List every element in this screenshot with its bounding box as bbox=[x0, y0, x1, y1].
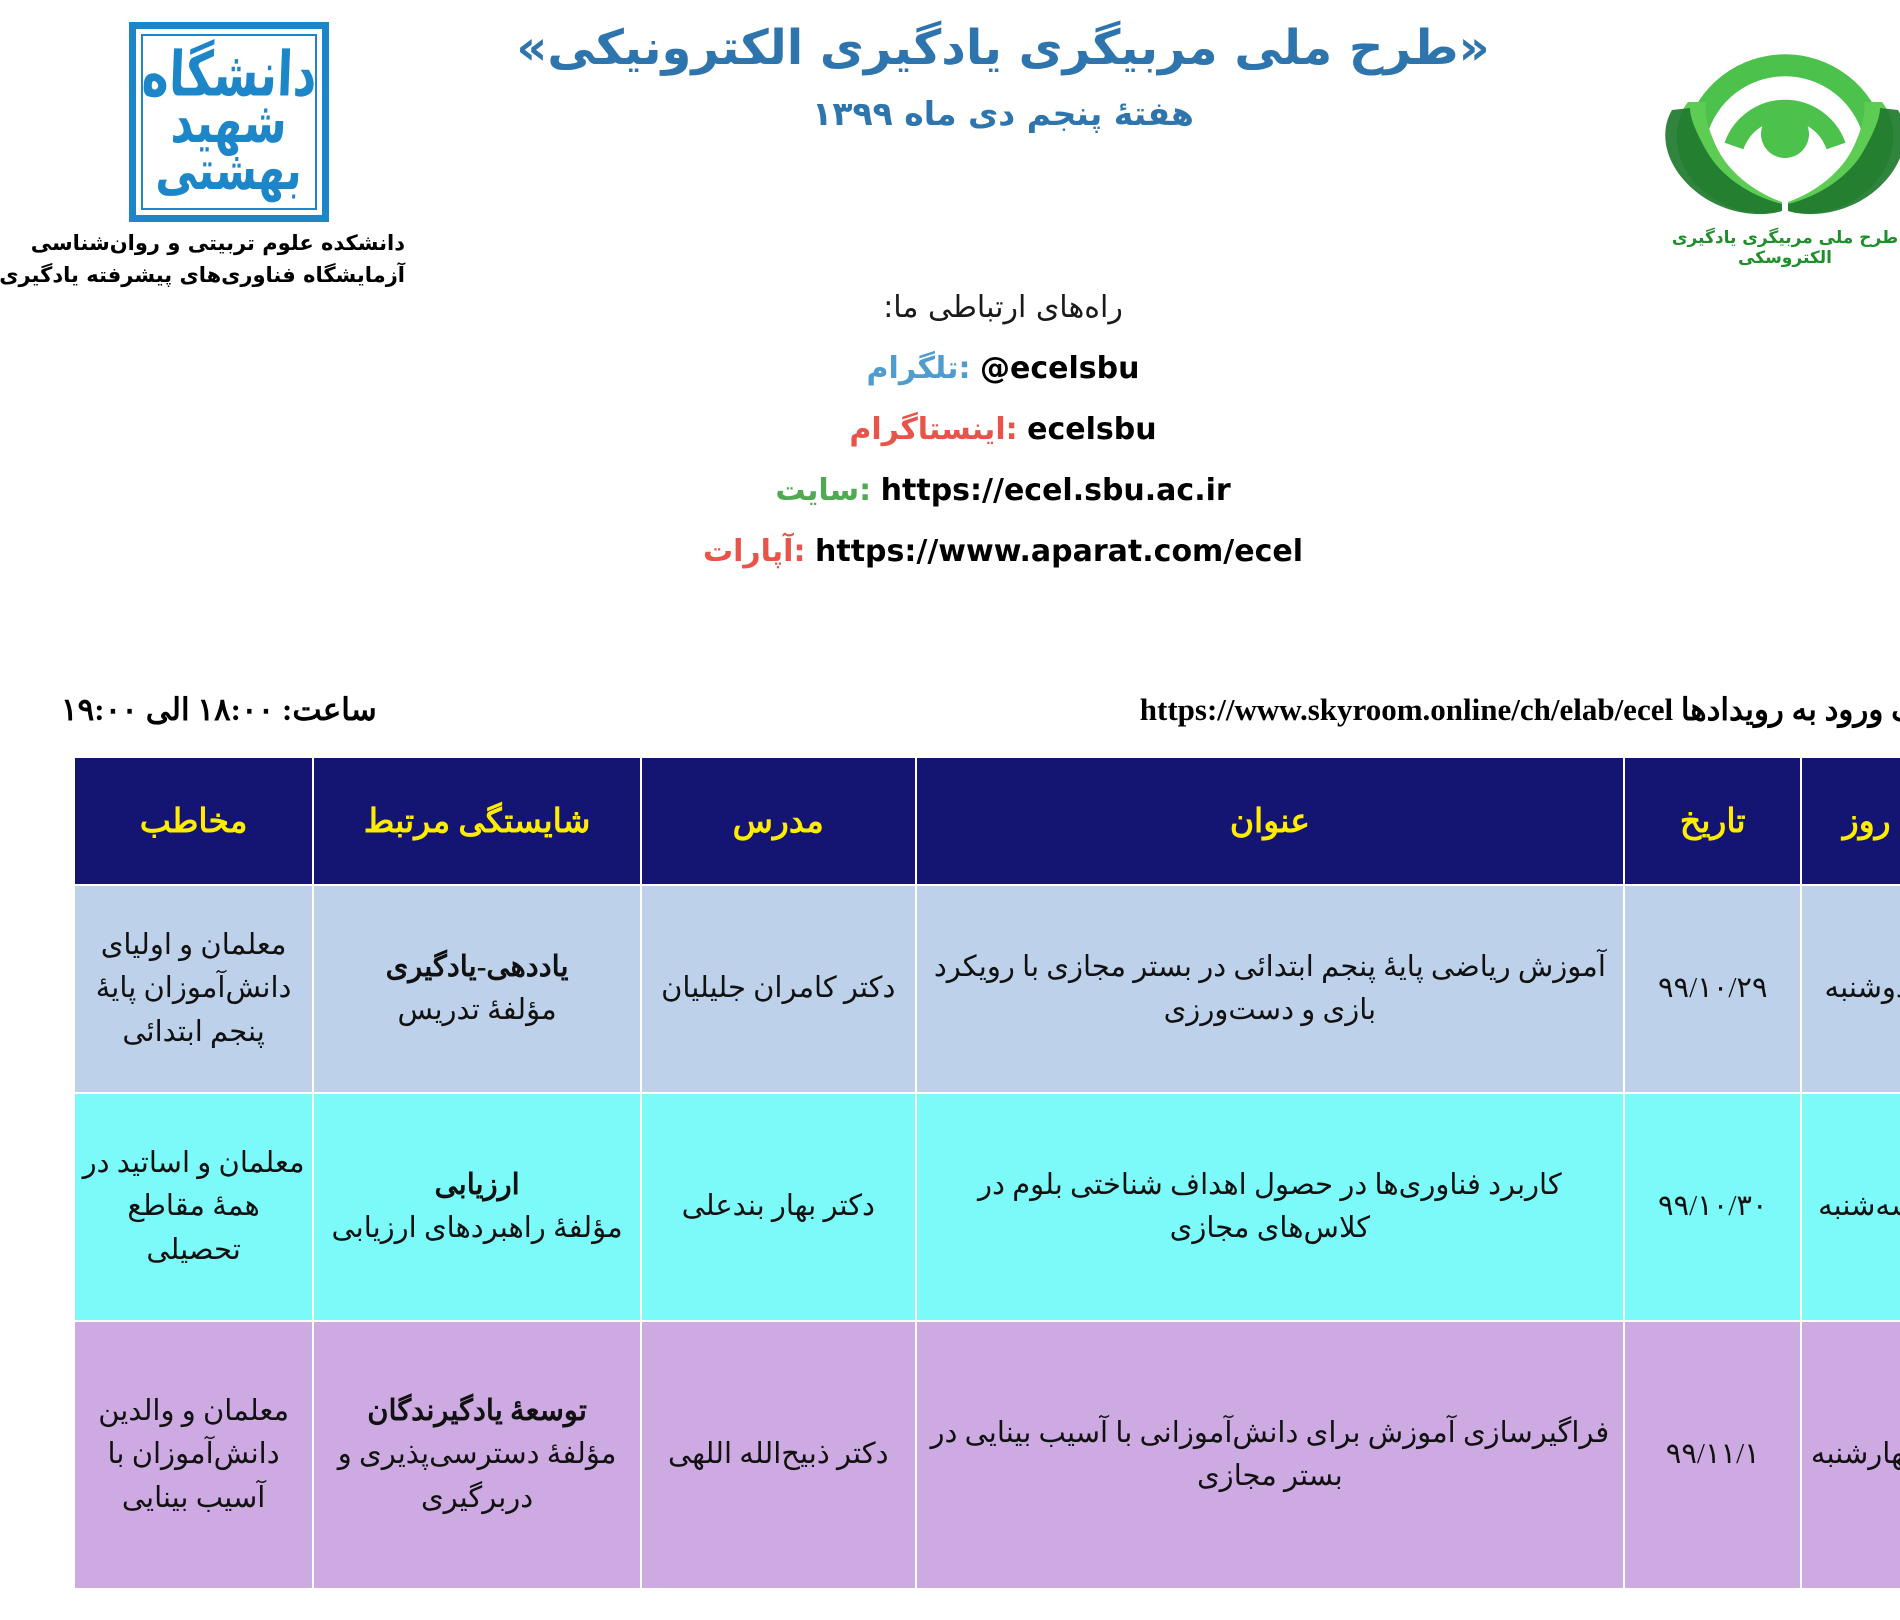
contact-row-instagram: ecelsbu :اینستاگرام bbox=[0, 412, 1900, 447]
shahid-beheshti-university-logo-icon: دانشگاه شهید بهشتی bbox=[76, 22, 276, 222]
ecel-program-logo-icon bbox=[1597, 6, 1867, 226]
sbu-logo-line-3: بهشتی bbox=[102, 146, 250, 196]
program-logo-caption: طرح ملی مربیگری یادگیری الکتروسکی bbox=[1572, 228, 1892, 268]
schedule-table-body: دوشنبه ۹۹/۱۰/۲۹ آموزش ریاضی پایۀ پنجم اب… bbox=[21, 885, 1879, 1589]
cell-day: سه‌شنبه bbox=[1748, 1093, 1879, 1321]
column-header-audience: مخاطب bbox=[21, 757, 260, 885]
cell-competency: یاددهی-یادگیری مؤلفۀ تدریس bbox=[260, 885, 588, 1093]
poster-subtitle: هفتۀ پنجم دی ماه ۱۳۹۹ bbox=[360, 94, 1540, 133]
cell-title: کاربرد فناوری‌ها در حصول اهداف شناختی بل… bbox=[863, 1093, 1572, 1321]
cell-title: آموزش ریاضی پایۀ پنجم ابتدائی در بستر مج… bbox=[863, 885, 1572, 1093]
telegram-label: :تلگرام bbox=[814, 351, 918, 386]
cell-day: چهارشنبه bbox=[1748, 1321, 1879, 1589]
cell-audience: معلمان و اولیای دانش‌آموزان پایۀ پنجم اب… bbox=[21, 885, 260, 1093]
university-block: دانشگاه شهید بهشتی دانشکده علوم تربیتی و… bbox=[0, 8, 352, 291]
column-header-day: روز bbox=[1748, 757, 1879, 885]
aparat-url[interactable]: https://www.aparat.com/ecel bbox=[762, 534, 1250, 569]
title-block: «طرح ملی مربیگری یادگیری الکترونیکی» هفت… bbox=[360, 18, 1540, 133]
contact-row-website: https://ecel.sbu.ac.ir :سایت bbox=[0, 473, 1900, 508]
competency-sub: مؤلفۀ تدریس bbox=[267, 989, 581, 1033]
contact-heading: راه‌های ارتباطی ما: bbox=[0, 290, 1900, 325]
website-label: :سایت bbox=[722, 473, 818, 508]
event-link-bar: لینک ورود به رویدادها https://www.skyroo… bbox=[0, 692, 1900, 750]
contact-row-telegram: @ecelsbu :تلگرام bbox=[0, 351, 1900, 386]
table-row: سه‌شنبه ۹۹/۱۰/۳۰ کاربرد فناوری‌ها در حصو… bbox=[21, 1093, 1879, 1321]
competency-main: توسعۀ یادگیرندگان bbox=[267, 1390, 581, 1434]
telegram-handle[interactable]: @ecelsbu bbox=[927, 351, 1086, 386]
event-entry-url[interactable]: https://www.skyroom.online/ch/elab/ecel bbox=[1087, 692, 1620, 728]
cell-instructor: دکتر بهار بندعلی bbox=[588, 1093, 863, 1321]
event-entry-label: لینک ورود به رویدادها bbox=[1628, 692, 1894, 727]
table-header-row: روز تاریخ عنوان مدرس شایستگی مرتبط مخاطب bbox=[21, 757, 1879, 885]
aparat-label: :آپارات bbox=[650, 534, 753, 569]
competency-main: یاددهی-یادگیری bbox=[267, 946, 581, 990]
cell-date: ۹۹/۱۰/۳۰ bbox=[1571, 1093, 1748, 1321]
cell-audience: معلمان و والدین دانش‌آموزان با آسیب بینا… bbox=[21, 1321, 260, 1589]
contact-row-aparat: https://www.aparat.com/ecel :آپارات bbox=[0, 534, 1900, 569]
column-header-competency: شایستگی مرتبط bbox=[260, 757, 588, 885]
column-header-instructor: مدرس bbox=[588, 757, 863, 885]
contact-block: راه‌های ارتباطی ما: @ecelsbu :تلگرام ece… bbox=[0, 290, 1900, 595]
competency-main: ارزیابی bbox=[267, 1164, 581, 1208]
faculty-name: دانشکده علوم تربیتی و روان‌شناسی bbox=[0, 228, 352, 260]
instagram-label: :اینستاگرام bbox=[796, 412, 964, 447]
cell-competency: ارزیابی مؤلفۀ راهبردهای ارزیابی bbox=[260, 1093, 588, 1321]
cell-instructor: دکتر کامران جلیلیان bbox=[588, 885, 863, 1093]
program-logo-block: طرح ملی مربیگری یادگیری الکتروسکی bbox=[1572, 6, 1892, 268]
schedule-table-wrap: روز تاریخ عنوان مدرس شایستگی مرتبط مخاطب… bbox=[20, 756, 1880, 1590]
column-header-title: عنوان bbox=[863, 757, 1572, 885]
website-url[interactable]: https://ecel.sbu.ac.ir bbox=[828, 473, 1178, 508]
lab-name: آزمایشگاه فناوری‌های پیشرفته یادگیری bbox=[0, 260, 352, 292]
table-row: دوشنبه ۹۹/۱۰/۲۹ آموزش ریاضی پایۀ پنجم اب… bbox=[21, 885, 1879, 1093]
cell-day: دوشنبه bbox=[1748, 885, 1879, 1093]
schedule-table: روز تاریخ عنوان مدرس شایستگی مرتبط مخاطب… bbox=[20, 756, 1880, 1590]
competency-sub: مؤلفۀ راهبردهای ارزیابی bbox=[267, 1207, 581, 1251]
table-row: چهارشنبه ۹۹/۱۱/۱ فراگیرسازی آموزش برای د… bbox=[21, 1321, 1879, 1589]
event-entry-group: لینک ورود به رویدادها https://www.skyroo… bbox=[1065, 692, 1894, 728]
poster-title: «طرح ملی مربیگری یادگیری الکترونیکی» bbox=[360, 18, 1540, 78]
column-header-date: تاریخ bbox=[1571, 757, 1748, 885]
event-time-label: ساعت: ۱۸:۰۰ الی ۱۹:۰۰ bbox=[8, 692, 324, 728]
cell-instructor: دکتر ذبیح‌الله اللهی bbox=[588, 1321, 863, 1589]
cell-date: ۹۹/۱۱/۱ bbox=[1571, 1321, 1748, 1589]
competency-sub: مؤلفۀ دسترسی‌پذیری و دربرگیری bbox=[267, 1433, 581, 1520]
cell-date: ۹۹/۱۰/۲۹ bbox=[1571, 885, 1748, 1093]
cell-audience: معلمان و اساتید در همۀ مقاطع تحصیلی bbox=[21, 1093, 260, 1321]
schedule-table-head: روز تاریخ عنوان مدرس شایستگی مرتبط مخاطب bbox=[21, 757, 1879, 885]
poster-header: دانشگاه شهید بهشتی دانشکده علوم تربیتی و… bbox=[0, 0, 1900, 300]
instagram-handle[interactable]: ecelsbu bbox=[974, 412, 1103, 447]
cell-competency: توسعۀ یادگیرندگان مؤلفۀ دسترسی‌پذیری و د… bbox=[260, 1321, 588, 1589]
cell-title: فراگیرسازی آموزش برای دانش‌آموزانی با آس… bbox=[863, 1321, 1572, 1589]
